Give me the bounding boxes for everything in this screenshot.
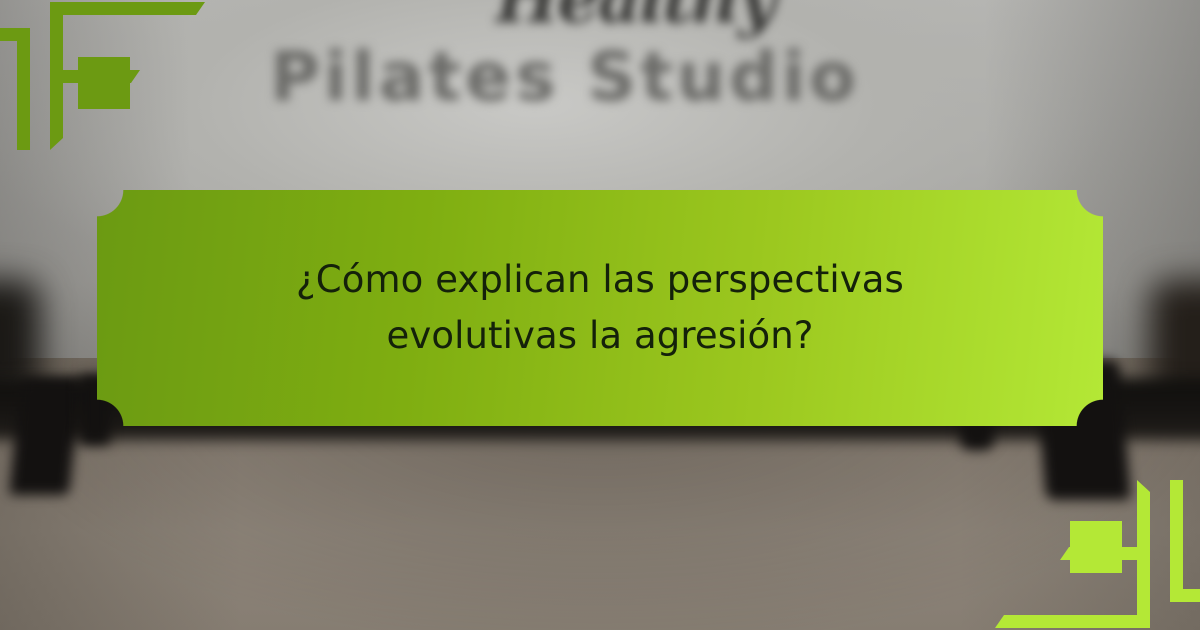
ornament-line-stub-right xyxy=(1170,589,1200,602)
ornament-line-vertical-outer xyxy=(17,28,30,150)
wall-sign-script-text: Healthy xyxy=(46,0,1200,40)
ornament-line-vertical-inner-br xyxy=(1137,480,1150,628)
ornament-line-vertical-outer-br xyxy=(1170,480,1183,602)
corner-ornament-top-left xyxy=(0,0,210,150)
ornament-line-top xyxy=(50,2,205,15)
corner-ornament-bottom-right xyxy=(990,480,1200,630)
ornament-square-bottom-right xyxy=(1070,521,1122,573)
ornament-line-vertical-inner xyxy=(50,2,63,150)
reformer-leg-a xyxy=(9,380,81,495)
headline-text: ¿Cómo explican las perspectivas evolutiv… xyxy=(97,190,1103,426)
ornament-square-top-left xyxy=(78,57,130,109)
ornament-line-stub-left xyxy=(0,28,30,41)
headline-banner: ¿Cómo explican las perspectivas evolutiv… xyxy=(97,190,1103,426)
ornament-line-bottom xyxy=(995,615,1150,628)
share-card: Healthy Pilates Studio xyxy=(0,0,1200,630)
